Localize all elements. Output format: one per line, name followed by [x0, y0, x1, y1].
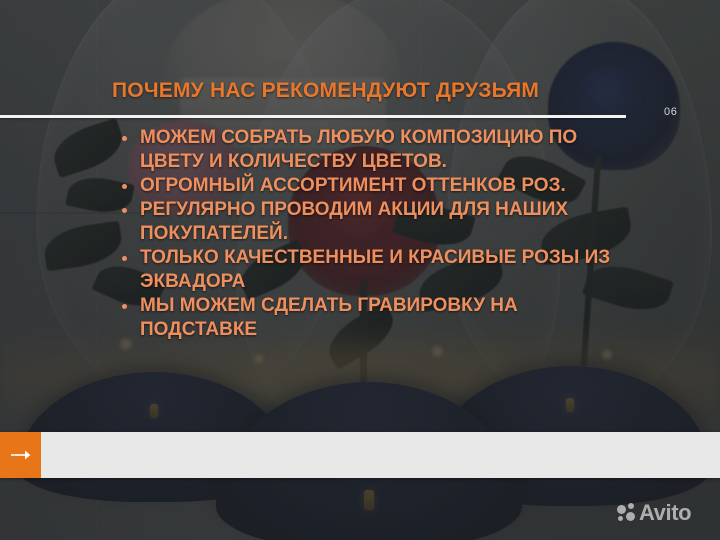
avito-watermark: Avito — [617, 503, 691, 522]
list-item: МЫ МОЖЕМ СДЕЛАТЬ ГРАВИРОВКУ НА ПОДСТАВКЕ — [118, 294, 630, 342]
list-item: РЕГУЛЯРНО ПРОВОДИМ АКЦИИ ДЛЯ НАШИХ ПОКУП… — [118, 198, 630, 246]
benefits-list: МОЖЕМ СОБРАТЬ ЛЮБУЮ КОМПОЗИЦИЮ ПО ЦВЕТУ … — [118, 126, 630, 342]
page-number: 06 — [664, 106, 677, 118]
slide-content: ПОЧЕМУ НАС РЕКОМЕНДУЮТ ДРУЗЬЯМ 06 МОЖЕМ … — [0, 0, 720, 540]
next-slide-button[interactable] — [0, 432, 41, 478]
arrow-right-icon — [10, 449, 32, 461]
presentation-slide: ПОЧЕМУ НАС РЕКОМЕНДУЮТ ДРУЗЬЯМ 06 МОЖЕМ … — [0, 0, 720, 540]
avito-dots-logo-icon — [617, 503, 636, 522]
title-divider — [0, 115, 626, 118]
list-item: ОГРОМНЫЙ АССОРТИМЕНТ ОТТЕНКОВ РОЗ. — [118, 174, 630, 198]
bottom-bar — [0, 432, 720, 478]
list-item: МОЖЕМ СОБРАТЬ ЛЮБУЮ КОМПОЗИЦИЮ ПО ЦВЕТУ … — [118, 126, 630, 174]
slide-title: ПОЧЕМУ НАС РЕКОМЕНДУЮТ ДРУЗЬЯМ — [112, 79, 539, 103]
watermark-label: Avito — [639, 503, 691, 522]
list-item: ТОЛЬКО КАЧЕСТВЕННЫЕ И КРАСИВЫЕ РОЗЫ ИЗ Э… — [118, 246, 630, 294]
